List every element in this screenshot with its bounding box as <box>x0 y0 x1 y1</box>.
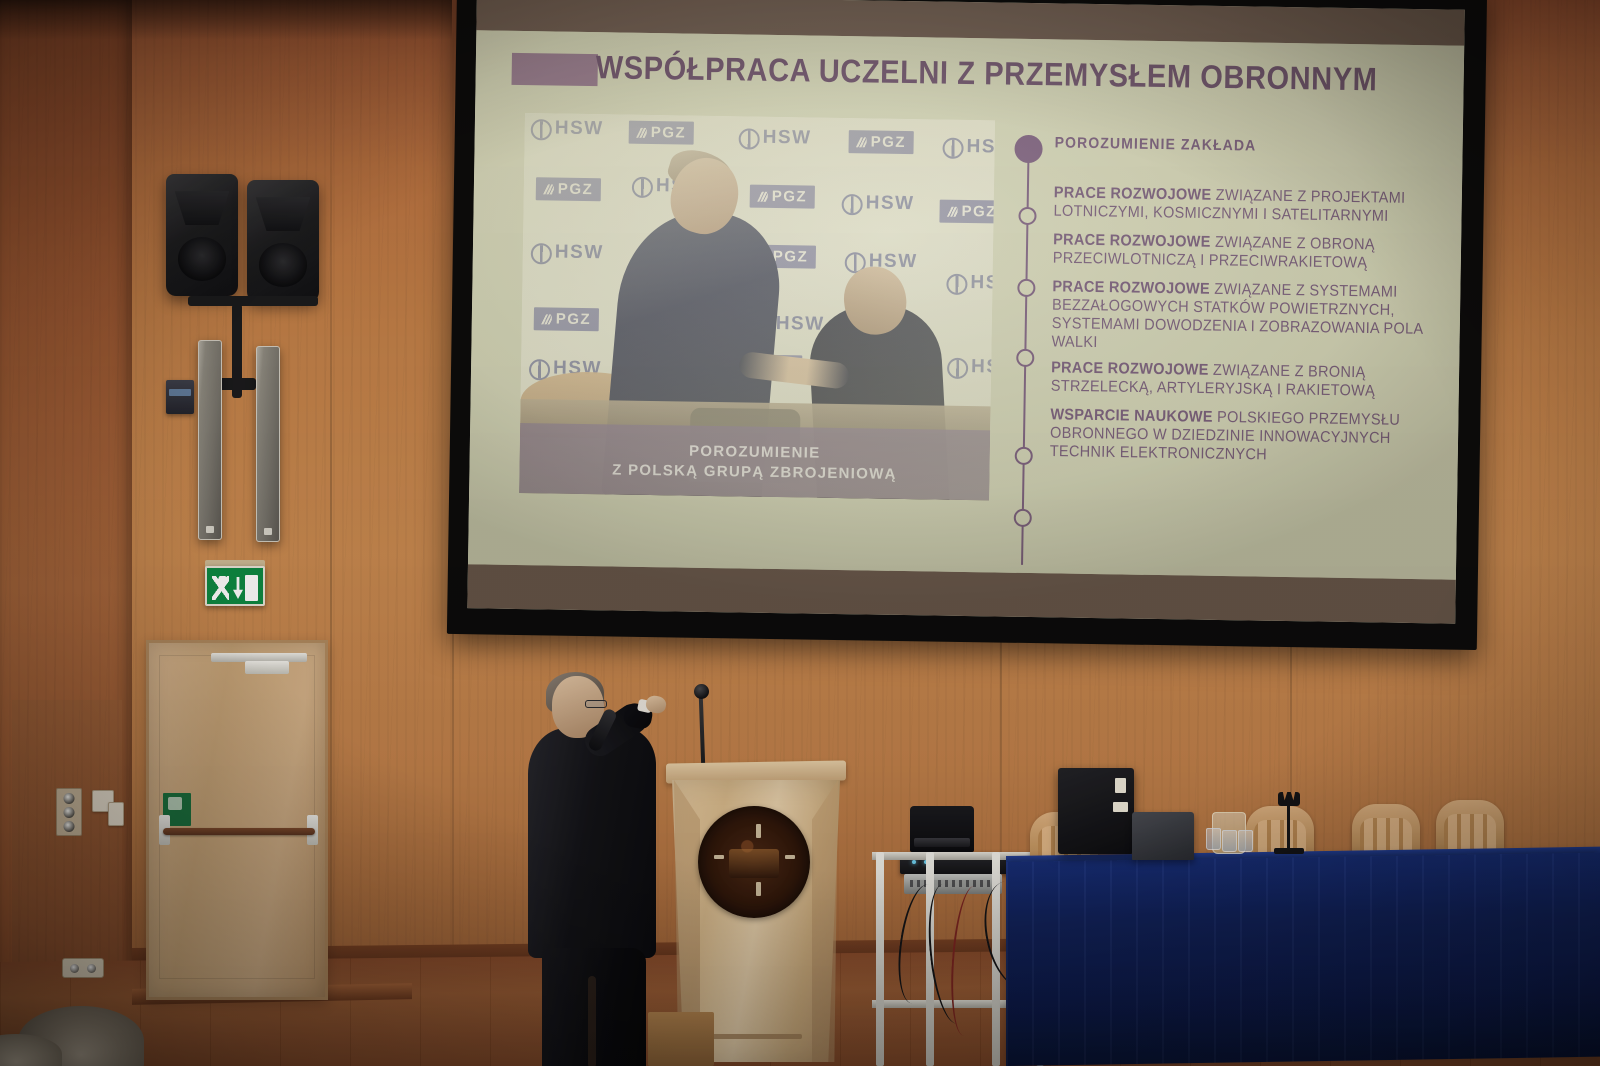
slide-photo: HSW PGZ HSW PGZ HSW PGZ HSW PGZ HSW PGZ … <box>519 113 995 500</box>
connector-plate <box>56 788 82 836</box>
slide-bullet-list: POROZUMIENIE ZAKŁADA PRACE ROZWOJOWE ZWI… <box>1050 133 1449 476</box>
speaker-pole-base <box>218 378 256 390</box>
cart-leg-1 <box>876 852 884 1066</box>
presentation-slide: WSPÓŁPRACA UCZELNI Z PRZEMYSŁEM OBRONNYM… <box>468 30 1464 579</box>
bullet-item-0: POROZUMIENIE ZAKŁADA <box>1055 133 1449 156</box>
bullet-item-3: PRACE ROZWOJOWE ZWIĄZANE Z SYSTEMAMI BEZ… <box>1051 278 1446 352</box>
hsw-logo: HSW <box>739 126 812 149</box>
down-arrow-icon <box>233 577 243 599</box>
pgz-logo: PGZ <box>939 200 995 224</box>
top-shadow <box>0 0 452 40</box>
photo-caption-line1: POROZUMIENIE <box>689 442 821 461</box>
bullet-lead: POROZUMIENIE ZAKŁADA <box>1055 133 1257 153</box>
table-microphone-stem <box>1287 800 1290 852</box>
water-glass-2 <box>1222 830 1237 852</box>
bullet-item-2: PRACE ROZWOJOWE ZWIĄZANE Z OBRONĄ PRZECI… <box>1053 231 1447 271</box>
pa-speaker-right <box>247 180 319 302</box>
doorway-icon <box>245 575 258 601</box>
bullet-lead: PRACE ROZWOJOWE <box>1053 231 1211 251</box>
hsw-logo: HSW <box>531 241 604 264</box>
timeline-marker-1 <box>1018 207 1036 225</box>
bullet-lead: PRACE ROZWOJOWE <box>1051 359 1209 379</box>
photo-caption: POROZUMIENIE Z POLSKĄ GRUPĄ ZBROJENIOWĄ <box>519 423 990 500</box>
hsw-logo: HSW <box>942 136 995 159</box>
bullet-item-5: WSPARCIE NAUKOWE POLSKIEGO PRZEMYSŁU OBR… <box>1050 406 1445 463</box>
slide-timeline <box>1004 135 1055 566</box>
table-microphone-base <box>1274 848 1304 854</box>
running-person-icon <box>212 576 229 600</box>
presenter-torso <box>528 728 656 958</box>
timeline-marker-5 <box>1014 509 1032 527</box>
presentation-room-photo: WSPÓŁPRACA UCZELNI Z PRZEMYSŁEM OBRONNYM… <box>0 0 1600 1066</box>
hsw-logo: HSW <box>531 117 604 140</box>
pgz-logo: PGZ <box>534 307 600 331</box>
timeline-marker-2 <box>1017 279 1035 297</box>
water-glass-1 <box>1206 828 1221 850</box>
door-closer-body <box>245 661 289 674</box>
presenter <box>528 676 678 1066</box>
column-speaker-right <box>256 346 280 542</box>
column-speaker-left <box>198 340 222 540</box>
bullet-item-1: PRACE ROZWOJOWE ZWIĄZANE Z PROJEKTAMI LO… <box>1053 184 1447 224</box>
pgz-logo: PGZ <box>629 121 695 145</box>
pa-speaker-left <box>166 174 238 296</box>
emergency-exit-sign <box>205 566 265 606</box>
presenter-leg-gap <box>588 976 596 1066</box>
bullet-lead: PRACE ROZWOJOWE <box>1054 184 1212 204</box>
timeline-marker-4 <box>1015 447 1033 465</box>
stage-bench <box>648 1012 714 1066</box>
slide-accent-bar <box>512 53 598 86</box>
light-switch-2[interactable] <box>108 802 124 826</box>
projection-screen: WSPÓŁPRACA UCZELNI Z PRZEMYSŁEM OBRONNYM… <box>447 0 1487 650</box>
bullet-lead: WSPARCIE NAUKOWE <box>1050 406 1213 426</box>
hsw-logo: HSW <box>842 192 915 215</box>
bullet-lead: PRACE ROZWOJOWE <box>1052 278 1210 298</box>
laptop[interactable] <box>1132 812 1194 860</box>
emergency-exit-door[interactable] <box>146 640 328 1000</box>
pgz-logo: PGZ <box>536 177 602 201</box>
bullet-item-4: PRACE ROZWOJOWE ZWIĄZANE Z BRONIĄ STRZEL… <box>1051 359 1445 399</box>
podium-mic-capsule <box>694 684 709 699</box>
water-glass-3 <box>1238 830 1253 852</box>
lectern-side-right <box>812 780 838 1062</box>
wall-control-box[interactable] <box>166 380 194 414</box>
screen-surface: WSPÓŁPRACA UCZELNI Z PRZEMYSŁEM OBRONNYM… <box>467 0 1465 624</box>
speaker-bracket <box>188 296 318 306</box>
presenter-glasses <box>585 700 607 708</box>
hsw-logo: HSW <box>947 356 995 379</box>
pgz-logo: PGZ <box>848 130 914 154</box>
av-printer <box>910 806 974 852</box>
timeline-marker-0 <box>1014 135 1042 163</box>
hsw-logo: HSW <box>946 272 995 295</box>
wall-seam <box>330 0 332 1066</box>
timeline-marker-3 <box>1016 349 1034 367</box>
lectern-emblem <box>698 806 810 918</box>
power-socket <box>62 958 104 978</box>
pgz-logo: PGZ <box>750 185 816 209</box>
lectern-trim <box>710 1034 802 1039</box>
slide-title: WSPÓŁPRACA UCZELNI Z PRZEMYSŁEM OBRONNYM <box>595 50 1433 100</box>
door-push-bar[interactable] <box>163 828 315 835</box>
presidium-table-skirt <box>1006 853 1600 1066</box>
photo-caption-line2: Z POLSKĄ GRUPĄ ZBROJENIOWĄ <box>612 461 897 482</box>
desktop-monitor <box>1058 768 1134 854</box>
